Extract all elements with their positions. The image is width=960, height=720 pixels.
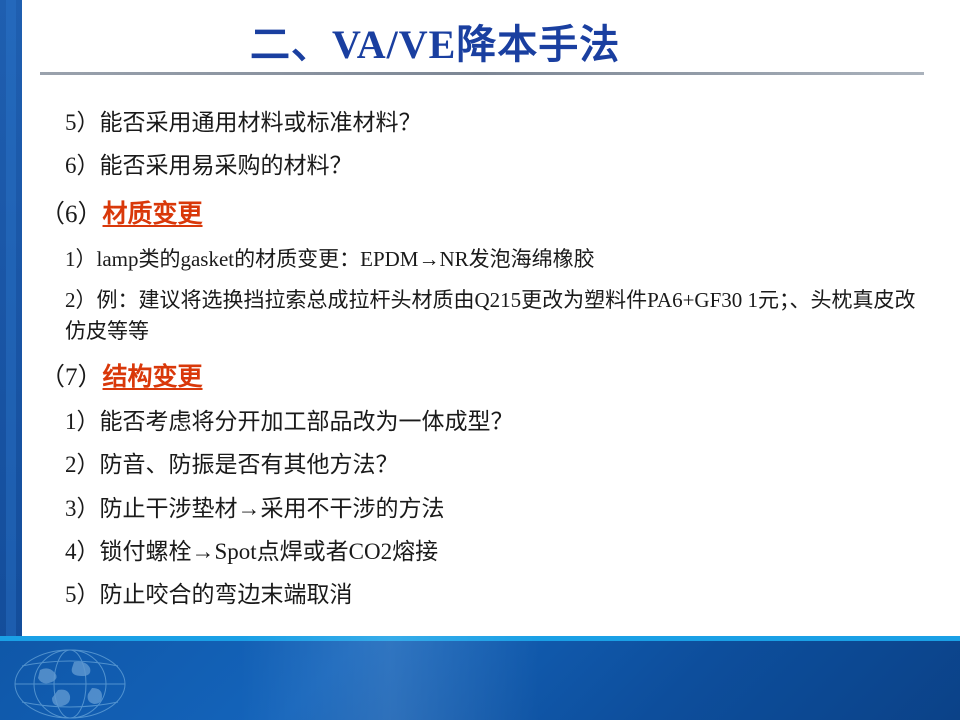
list-item: 3）防止干涉垫材→采用不干涉的方法 bbox=[65, 492, 930, 525]
section-heading-label: 材质变更 bbox=[103, 201, 203, 228]
slide: 二、VA/VE降本手法 5）能否采用通用材料或标准材料？ 6）能否采用易采购的材… bbox=[0, 0, 960, 720]
section-heading-prefix: （6） bbox=[40, 201, 103, 228]
left-decoration-bar-inner bbox=[6, 0, 16, 720]
page-title: 二、VA/VE降本手法 bbox=[250, 12, 870, 70]
list-item: 5）防止咬合的弯边末端取消 bbox=[65, 578, 930, 611]
list-item: 4）锁付螺栓→Spot点焊或者CO2熔接 bbox=[65, 535, 930, 568]
list-item: 1）能否考虑将分开加工部品改为一体成型？ bbox=[65, 405, 930, 438]
list-item-paragraph: 2）例：建议将选换挡拉索总成拉杆头材质由Q215更改为塑料件PA6+GF30 1… bbox=[65, 285, 925, 346]
list-item: 1）lamp类的gasket的材质变更：EPDM→NR发泡海绵橡胶 bbox=[65, 244, 930, 276]
footer-sheen bbox=[240, 636, 540, 720]
list-item: 5）能否采用通用材料或标准材料？ bbox=[65, 106, 930, 139]
section-heading-prefix: （7） bbox=[40, 364, 103, 391]
slide-body: 5）能否采用通用材料或标准材料？ 6）能否采用易采购的材料？ （6）材质变更 1… bbox=[40, 96, 930, 612]
section-heading: （7）结构变更 bbox=[40, 360, 930, 395]
globe-icon bbox=[10, 648, 160, 720]
footer-band bbox=[0, 636, 960, 720]
section-heading-label: 结构变更 bbox=[103, 364, 203, 391]
title-divider bbox=[40, 72, 924, 75]
list-item: 6）能否采用易采购的材料？ bbox=[65, 149, 930, 182]
section-heading: （6）材质变更 bbox=[40, 197, 930, 232]
list-item: 2）防音、防振是否有其他方法？ bbox=[65, 448, 930, 481]
left-decoration-bar bbox=[0, 0, 22, 720]
